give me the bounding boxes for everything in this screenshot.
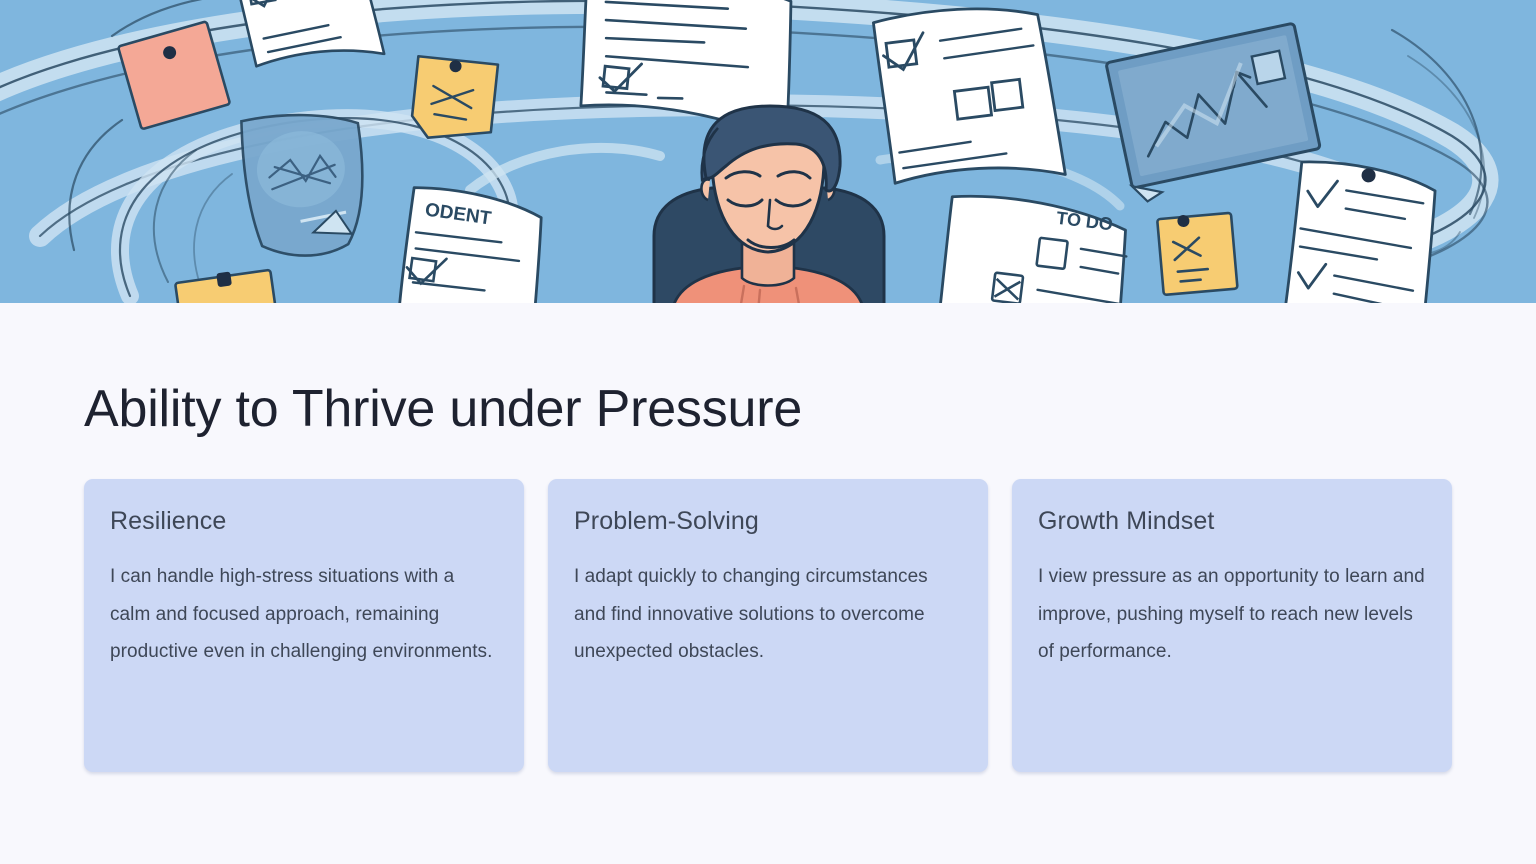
- card-body: I view pressure as an opportunity to lea…: [1038, 558, 1426, 671]
- hero-illustration-svg: ODENT: [0, 0, 1536, 303]
- card-resilience[interactable]: Resilience I can handle high-stress situ…: [84, 479, 524, 772]
- cards-row: Resilience I can handle high-stress situ…: [84, 479, 1452, 772]
- flying-document-right: [873, 0, 1065, 195]
- card-growth-mindset[interactable]: Growth Mindset I view pressure as an opp…: [1012, 479, 1452, 772]
- tilted-blue-sheet: [241, 110, 369, 259]
- page-title: Ability to Thrive under Pressure: [84, 381, 1452, 438]
- card-body: I adapt quickly to changing circumstance…: [574, 558, 962, 671]
- card-problem-solving[interactable]: Problem-Solving I adapt quickly to chang…: [548, 479, 988, 772]
- card-body: I can handle high-stress situations with…: [110, 558, 498, 671]
- sticky-note-yellow-right: [1157, 211, 1238, 295]
- content-area: Ability to Thrive under Pressure Resilie…: [0, 381, 1536, 772]
- card-title: Problem-Solving: [574, 506, 962, 536]
- card-title: Growth Mindset: [1038, 506, 1426, 536]
- sticky-note-yellow-left: [410, 56, 498, 144]
- slide-page: ODENT: [0, 0, 1536, 864]
- hero-illustration: ODENT: [0, 0, 1536, 303]
- card-title: Resilience: [110, 506, 498, 536]
